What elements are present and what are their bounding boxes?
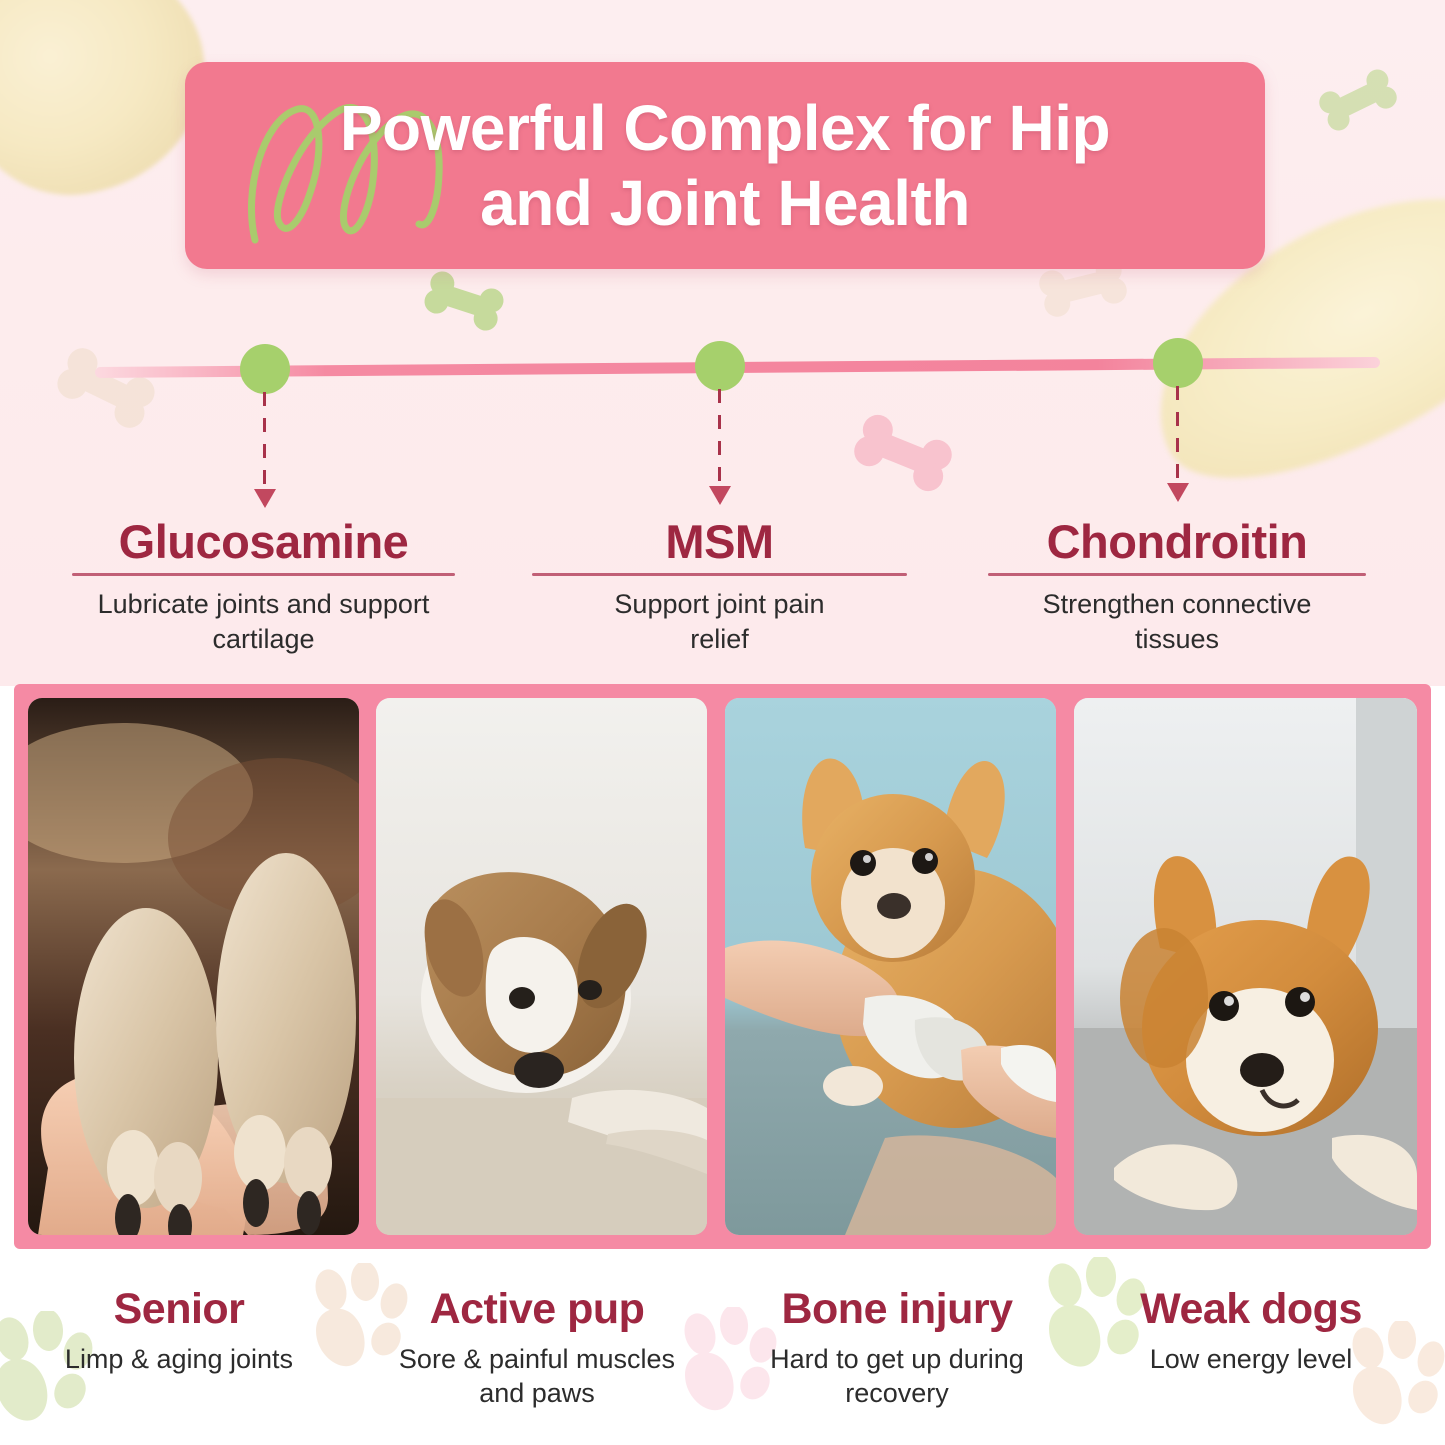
use-case-description: Sore & painful muscles and paws [382, 1342, 692, 1410]
ingredient-description-line-1: Strengthen connective [1043, 589, 1312, 619]
use-case-weak-dogs: Weak dogs Low energy level [1106, 1287, 1396, 1376]
use-case-description: Hard to get up during recovery [742, 1342, 1052, 1410]
ingredient-description: Support joint pain relief [532, 587, 907, 656]
use-case-title: Weak dogs [1106, 1287, 1396, 1332]
page-title-line-2: and Joint Health [480, 167, 970, 239]
use-case-title: Senior [34, 1287, 324, 1332]
arrowhead-icon [254, 489, 276, 508]
ingredient-name: MSM [532, 517, 907, 566]
use-case-description: Limp & aging joints [34, 1342, 324, 1376]
use-case-description-line-1: Hard to get up during [770, 1344, 1024, 1374]
ingredient-msm: MSM Support joint pain relief [532, 517, 907, 656]
use-case-bone-injury: Bone injury Hard to get up during recove… [742, 1287, 1052, 1410]
timeline-node-glucosamine [240, 344, 290, 394]
ingredient-description-line-2: relief [690, 624, 749, 654]
use-case-description-line-1: Limp & aging joints [65, 1344, 293, 1374]
page-title: Powerful Complex for Hip and Joint Healt… [185, 62, 1265, 269]
use-case-description-line-1: Low energy level [1150, 1344, 1353, 1374]
ingredient-name: Chondroitin [988, 517, 1366, 566]
ingredient-chondroitin: Chondroitin Strengthen connective tissue… [988, 517, 1366, 656]
arrowhead-icon [1167, 483, 1189, 502]
ingredient-rule [532, 573, 907, 576]
page-title-line-1: Powerful Complex for Hip [340, 92, 1110, 164]
connector-arrow-msm [718, 389, 721, 502]
ingredient-description-line-1: Support joint pain [614, 589, 824, 619]
photo-strip [14, 684, 1431, 1249]
header-banner: Powerful Complex for Hip and Joint Healt… [185, 62, 1265, 269]
connector-arrow-glucosamine [263, 392, 266, 505]
ingredient-description: Lubricate joints and support cartilage [72, 587, 455, 656]
use-case-description: Low energy level [1106, 1342, 1396, 1376]
ingredient-glucosamine: Glucosamine Lubricate joints and support… [72, 517, 455, 656]
use-case-title: Active pup [382, 1287, 692, 1332]
use-case-description-line-2: recovery [845, 1378, 949, 1408]
use-case-active-pup: Active pup Sore & painful muscles and pa… [382, 1287, 692, 1410]
ingredient-description: Strengthen connective tissues [988, 587, 1366, 656]
use-case-description-line-1: Sore & painful muscles [399, 1344, 675, 1374]
ingredient-name: Glucosamine [72, 517, 455, 566]
ingredient-description-line-1: Lubricate joints and support [98, 589, 430, 619]
ingredient-rule [72, 573, 455, 576]
use-case-senior: Senior Limp & aging joints [34, 1287, 324, 1376]
photo-active-pup [376, 698, 707, 1235]
ingredient-description-line-2: tissues [1135, 624, 1219, 654]
use-case-description-line-2: and paws [479, 1378, 595, 1408]
photo-weak-dogs [1074, 698, 1417, 1235]
timeline-node-msm [695, 341, 745, 391]
connector-arrow-chondroitin [1176, 386, 1179, 499]
use-case-title: Bone injury [742, 1287, 1052, 1332]
ingredient-rule [988, 573, 1366, 576]
timeline-node-chondroitin [1153, 338, 1203, 388]
arrowhead-icon [709, 486, 731, 505]
photo-bone-injury [725, 698, 1056, 1235]
use-case-row: Senior Limp & aging joints Active pup So… [0, 1255, 1445, 1445]
photo-senior-paws [28, 698, 359, 1235]
infographic-canvas: Powerful Complex for Hip and Joint Healt… [0, 0, 1445, 1445]
ingredient-description-line-2: cartilage [212, 624, 314, 654]
